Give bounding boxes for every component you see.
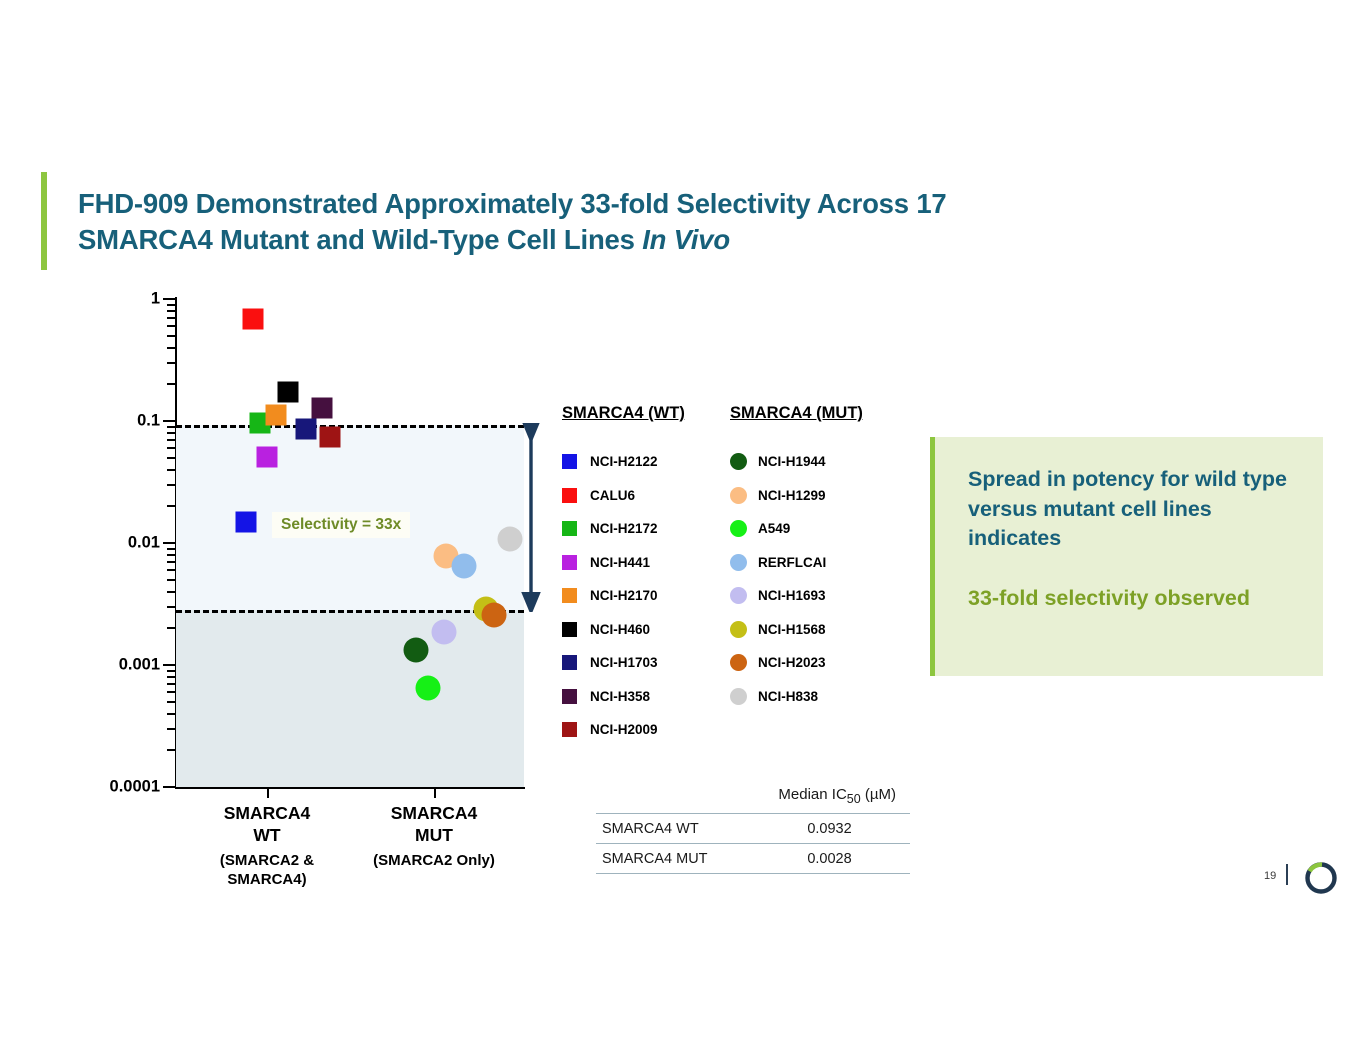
legend-item: NCI-H1568	[730, 613, 863, 647]
legend-column-wt: SMARCA4 (WT) NCI-H2122CALU6NCI-H2172NCI-…	[562, 404, 685, 747]
table-cell-name: SMARCA4 WT	[596, 821, 777, 837]
y-tick-label: 0.0001	[110, 778, 160, 797]
y-tick-major	[163, 298, 175, 300]
y-tick-minor	[167, 484, 175, 486]
median-reference-line	[176, 610, 524, 613]
legend-swatch-icon	[562, 555, 577, 570]
y-tick-minor	[167, 469, 175, 471]
x-tick-mut	[434, 789, 436, 798]
legend-swatch-icon	[562, 622, 577, 637]
y-tick-minor	[167, 325, 175, 327]
legend-item: NCI-H1944	[730, 445, 863, 479]
table-row: SMARCA4 WT0.0932	[596, 813, 910, 843]
legend-item: A549	[730, 512, 863, 546]
legend-item: NCI-H358	[562, 680, 685, 714]
callout-accent-bar	[930, 437, 935, 676]
x-sublabel-mut: (SMARCA2 Only)	[354, 852, 514, 871]
legend-swatch-icon	[730, 487, 747, 504]
legend-item-label: A549	[758, 521, 790, 536]
legend-item-label: NCI-H441	[590, 555, 650, 570]
median-reference-line	[176, 425, 524, 428]
selectivity-band-lower	[176, 610, 524, 787]
callout-secondary-text: 33-fold selectivity observed	[968, 584, 1308, 614]
y-tick-minor	[167, 676, 175, 678]
y-tick-label: 0.001	[119, 656, 160, 675]
legend-swatch-icon	[562, 488, 577, 503]
data-point-nci-h441	[257, 446, 278, 467]
legend-item: NCI-H2172	[562, 512, 685, 546]
legend-item-label: NCI-H2170	[590, 588, 658, 603]
title-line-2-italic: In Vivo	[642, 224, 730, 255]
table-row: SMARCA4 MUT0.0028	[596, 843, 910, 873]
legend-swatch-icon	[730, 621, 747, 638]
data-point-nci-h1944	[404, 637, 429, 662]
y-tick-minor	[167, 310, 175, 312]
y-tick-minor	[167, 505, 175, 507]
legend-swatch-icon	[562, 655, 577, 670]
y-axis-labels: 10.10.010.0010.0001	[0, 0, 160, 900]
data-point-nci-h460	[278, 382, 299, 403]
y-tick-label: 0.1	[137, 412, 160, 431]
legend-swatch-icon	[562, 521, 577, 536]
x-label-wt: SMARCA4WT	[187, 803, 347, 847]
legend-item-label: NCI-H2023	[758, 655, 826, 670]
y-tick-minor	[167, 457, 175, 459]
table-cell-value: 0.0028	[777, 851, 910, 867]
data-point-nci-h358	[312, 398, 333, 419]
legend-item-label: NCI-H358	[590, 689, 650, 704]
y-tick-minor	[167, 561, 175, 563]
selectivity-arrow-icon	[517, 423, 545, 613]
legend-item-label: NCI-H838	[758, 689, 818, 704]
legend-swatch-icon	[730, 554, 747, 571]
legend-swatch-icon	[730, 688, 747, 705]
x-tick-wt	[267, 789, 269, 798]
legend-item: NCI-H838	[730, 680, 863, 714]
data-point-a549	[416, 675, 441, 700]
plot-area	[176, 299, 524, 787]
y-tick-minor	[167, 606, 175, 608]
y-tick-major	[163, 786, 175, 788]
data-point-rerflcai	[452, 553, 477, 578]
y-tick-minor	[167, 447, 175, 449]
y-tick-minor	[167, 439, 175, 441]
legend-item: NCI-H1299	[730, 479, 863, 513]
legend-column-mut: SMARCA4 (MUT) NCI-H1944NCI-H1299A549RERF…	[730, 404, 863, 713]
selectivity-annotation: Selectivity = 33x	[272, 512, 410, 538]
legend-swatch-icon	[730, 654, 747, 671]
legend-item: NCI-H2122	[562, 445, 685, 479]
legend-header-wt: SMARCA4 (WT)	[562, 404, 685, 423]
data-point-nci-h2122	[236, 512, 257, 533]
legend-item-label: NCI-H2172	[590, 521, 658, 536]
y-tick-minor	[167, 701, 175, 703]
table-cell-name: SMARCA4 MUT	[596, 851, 777, 867]
legend-item-label: NCI-H1568	[758, 622, 826, 637]
legend-item: NCI-H1693	[730, 579, 863, 613]
legend-item-label: NCI-H1944	[758, 454, 826, 469]
legend-item-label: RERFLCAI	[758, 555, 826, 570]
legend-swatch-icon	[730, 520, 747, 537]
data-point-nci-h1693	[432, 620, 457, 645]
callout-primary-text: Spread in potency for wild type versus m…	[968, 465, 1308, 554]
legend-item: NCI-H2170	[562, 579, 685, 613]
y-tick-minor	[167, 670, 175, 672]
y-tick-minor	[167, 335, 175, 337]
table-cell-value: 0.0932	[777, 821, 910, 837]
legend-swatch-icon	[562, 722, 577, 737]
x-axis-line	[175, 787, 525, 789]
y-tick-minor	[167, 627, 175, 629]
y-tick-minor	[167, 713, 175, 715]
legend-swatch-icon	[562, 454, 577, 469]
table-header-median: Median IC50 (µM)	[596, 786, 910, 813]
y-tick-major	[163, 420, 175, 422]
y-tick-minor	[167, 579, 175, 581]
y-tick-label: 1	[151, 290, 160, 309]
y-tick-minor	[167, 317, 175, 319]
legend-item-label: NCI-H460	[590, 622, 650, 637]
y-tick-minor	[167, 591, 175, 593]
y-tick-label: 0.01	[128, 534, 160, 553]
footer-divider	[1286, 864, 1288, 885]
legend-swatch-icon	[562, 588, 577, 603]
legend-swatch-icon	[562, 689, 577, 704]
company-logo-icon	[1301, 858, 1341, 903]
y-tick-minor	[167, 548, 175, 550]
y-tick-minor	[167, 728, 175, 730]
legend-item: CALU6	[562, 479, 685, 513]
legend-item-label: NCI-H1299	[758, 488, 826, 503]
y-tick-minor	[167, 691, 175, 693]
ic50-scatter-chart: Absolute IC50 (µM) 10.10.010.0010.0001 S…	[0, 0, 560, 900]
legend-item: RERFLCAI	[730, 546, 863, 580]
table-bottom-rule	[596, 873, 910, 874]
x-label-mut: SMARCA4MUT	[354, 803, 514, 847]
data-point-nci-h838	[498, 526, 523, 551]
legend-item-label: CALU6	[590, 488, 635, 503]
y-tick-minor	[167, 749, 175, 751]
page-number: 19	[1264, 870, 1276, 882]
legend-header-mut: SMARCA4 (MUT)	[730, 404, 863, 423]
legend-item-label: NCI-H1693	[758, 588, 826, 603]
median-ic50-table: Median IC50 (µM) SMARCA4 WT0.0932SMARCA4…	[596, 786, 910, 874]
data-point-nci-h2023	[482, 603, 507, 628]
y-tick-minor	[167, 347, 175, 349]
legend-item: NCI-H1703	[562, 646, 685, 680]
y-tick-minor	[167, 569, 175, 571]
data-point-calu6	[243, 309, 264, 330]
y-tick-minor	[167, 362, 175, 364]
y-tick-minor	[167, 554, 175, 556]
y-tick-minor	[167, 432, 175, 434]
y-tick-minor	[167, 383, 175, 385]
y-tick-major	[163, 542, 175, 544]
legend-item: NCI-H460	[562, 613, 685, 647]
data-point-nci-h2009	[320, 427, 341, 448]
legend-item-label: NCI-H2122	[590, 454, 658, 469]
data-point-nci-h1703	[296, 419, 317, 440]
data-point-nci-h2170	[266, 404, 287, 425]
y-tick-minor	[167, 426, 175, 428]
legend-item: NCI-H2009	[562, 713, 685, 747]
y-tick-minor	[167, 683, 175, 685]
legend-item: NCI-H2023	[730, 646, 863, 680]
legend-item: NCI-H441	[562, 546, 685, 580]
x-sublabel-wt: (SMARCA2 &SMARCA4)	[187, 852, 347, 890]
legend-item-label: NCI-H1703	[590, 655, 658, 670]
insight-callout: Spread in potency for wild type versus m…	[930, 437, 1323, 676]
legend-item-label: NCI-H2009	[590, 722, 658, 737]
legend-swatch-icon	[730, 453, 747, 470]
y-tick-minor	[167, 304, 175, 306]
legend-swatch-icon	[730, 587, 747, 604]
y-tick-major	[163, 664, 175, 666]
